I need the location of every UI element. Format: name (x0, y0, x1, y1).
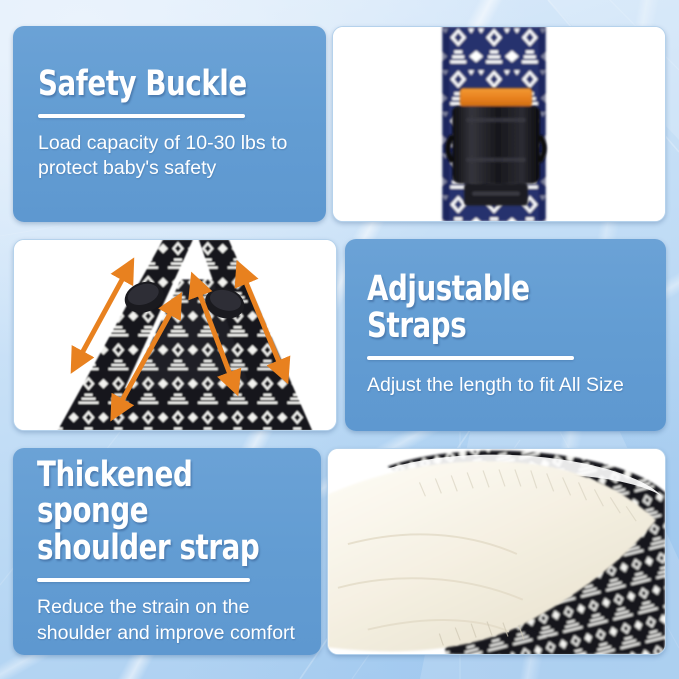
heading-divider (37, 578, 250, 582)
feature-text-panel: Thickened sponge shoulder strap Reduce t… (13, 448, 321, 655)
feature-row-adjustable-straps: Adjustable Straps Adjust the length to f… (0, 239, 679, 431)
feature-heading: Adjustable Straps (367, 271, 614, 345)
feature-description: Reduce the strain on the shoulder and im… (37, 595, 303, 646)
adjustable-straps-illustration (14, 240, 336, 430)
feature-row-safety-buckle: Safety Buckle Load capacity of 10-30 lbs… (0, 26, 679, 222)
feature-row-sponge-strap: Thickened sponge shoulder strap Reduce t… (0, 448, 679, 655)
feature-heading: Safety Buckle (38, 66, 276, 103)
feature-text-panel: Safety Buckle Load capacity of 10-30 lbs… (13, 26, 326, 222)
feature-description: Adjust the length to fit All Size (367, 373, 648, 399)
infographic-canvas: Safety Buckle Load capacity of 10-30 lbs… (0, 0, 679, 679)
feature-description: Load capacity of 10-30 lbs to protect ba… (38, 131, 308, 182)
feature-heading: Thickened sponge shoulder strap (37, 457, 271, 567)
sponge-strap-photo (327, 448, 666, 655)
sponge-strap-illustration (328, 449, 665, 654)
heading-divider (38, 114, 245, 118)
adjustable-straps-photo (13, 239, 337, 431)
buckle-photo (332, 26, 666, 222)
feature-text-panel: Adjustable Straps Adjust the length to f… (345, 239, 666, 431)
buckle-illustration (333, 27, 665, 221)
heading-divider (367, 356, 574, 360)
